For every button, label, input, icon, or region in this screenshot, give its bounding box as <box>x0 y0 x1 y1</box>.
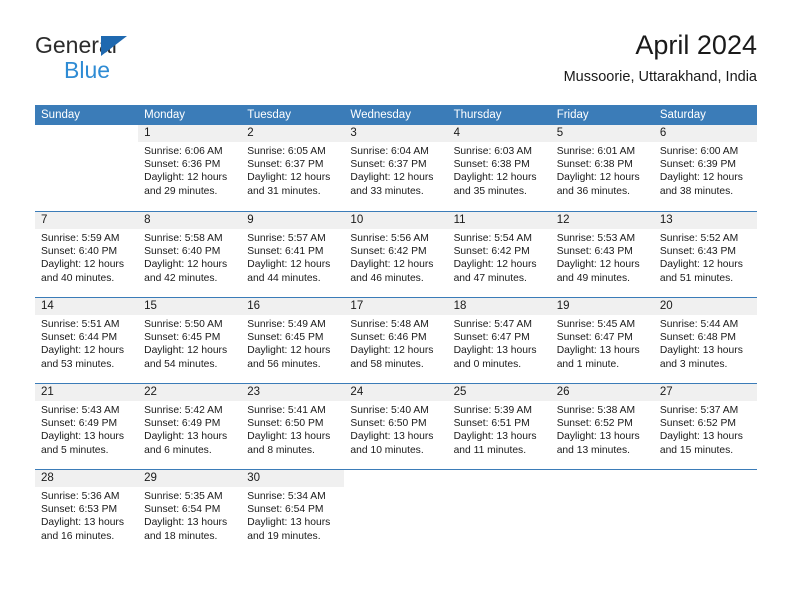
day-cell-empty <box>344 470 447 555</box>
day-cell[interactable]: 7Sunrise: 5:59 AMSunset: 6:40 PMDaylight… <box>35 212 138 297</box>
sunrise-text: Sunrise: 5:44 AM <box>660 318 751 331</box>
day-sun-info: Sunrise: 5:52 AMSunset: 6:43 PMDaylight:… <box>654 229 757 285</box>
daylight-text-line1: Daylight: 13 hours <box>557 430 648 443</box>
sunset-text: Sunset: 6:37 PM <box>247 158 338 171</box>
day-number <box>654 470 757 487</box>
day-number: 12 <box>551 212 654 229</box>
daylight-text-line1: Daylight: 13 hours <box>350 430 441 443</box>
sunset-text: Sunset: 6:51 PM <box>454 417 545 430</box>
calendar-grid: Sunday Monday Tuesday Wednesday Thursday… <box>35 105 757 555</box>
week-row: 1Sunrise: 6:06 AMSunset: 6:36 PMDaylight… <box>35 125 757 211</box>
day-number: 23 <box>241 384 344 401</box>
day-number: 29 <box>138 470 241 487</box>
sunrise-text: Sunrise: 6:01 AM <box>557 145 648 158</box>
sunset-text: Sunset: 6:49 PM <box>41 417 132 430</box>
day-sun-info: Sunrise: 5:59 AMSunset: 6:40 PMDaylight:… <box>35 229 138 285</box>
calendar-weeks: 1Sunrise: 6:06 AMSunset: 6:36 PMDaylight… <box>35 125 757 555</box>
daylight-text-line2: and 6 minutes. <box>144 444 235 457</box>
day-cell[interactable]: 15Sunrise: 5:50 AMSunset: 6:45 PMDayligh… <box>138 298 241 383</box>
day-number: 26 <box>551 384 654 401</box>
daylight-text-line1: Daylight: 12 hours <box>660 171 751 184</box>
day-cell[interactable]: 6Sunrise: 6:00 AMSunset: 6:39 PMDaylight… <box>654 125 757 211</box>
day-cell[interactable]: 29Sunrise: 5:35 AMSunset: 6:54 PMDayligh… <box>138 470 241 555</box>
day-number: 22 <box>138 384 241 401</box>
sunrise-text: Sunrise: 5:42 AM <box>144 404 235 417</box>
daylight-text-line2: and 51 minutes. <box>660 272 751 285</box>
day-sun-info: Sunrise: 6:05 AMSunset: 6:37 PMDaylight:… <box>241 142 344 198</box>
daylight-text-line2: and 3 minutes. <box>660 358 751 371</box>
week-row: 14Sunrise: 5:51 AMSunset: 6:44 PMDayligh… <box>35 297 757 383</box>
daylight-text-line2: and 13 minutes. <box>557 444 648 457</box>
sunrise-text: Sunrise: 5:53 AM <box>557 232 648 245</box>
day-of-week-header-row: Sunday Monday Tuesday Wednesday Thursday… <box>35 105 757 125</box>
day-cell[interactable]: 5Sunrise: 6:01 AMSunset: 6:38 PMDaylight… <box>551 125 654 211</box>
daylight-text-line1: Daylight: 12 hours <box>247 171 338 184</box>
daylight-text-line1: Daylight: 13 hours <box>660 430 751 443</box>
daylight-text-line1: Daylight: 12 hours <box>350 171 441 184</box>
day-number: 18 <box>448 298 551 315</box>
daylight-text-line1: Daylight: 12 hours <box>247 258 338 271</box>
day-number: 1 <box>138 125 241 142</box>
daylight-text-line1: Daylight: 13 hours <box>41 430 132 443</box>
sunrise-text: Sunrise: 5:58 AM <box>144 232 235 245</box>
day-number: 21 <box>35 384 138 401</box>
daylight-text-line1: Daylight: 13 hours <box>144 430 235 443</box>
day-cell[interactable]: 4Sunrise: 6:03 AMSunset: 6:38 PMDaylight… <box>448 125 551 211</box>
day-number: 3 <box>344 125 447 142</box>
daylight-text-line2: and 35 minutes. <box>454 185 545 198</box>
day-header-saturday: Saturday <box>654 105 757 125</box>
calendar-page: General Blue April 2024 Mussoorie, Uttar… <box>0 0 792 612</box>
day-sun-info: Sunrise: 5:58 AMSunset: 6:40 PMDaylight:… <box>138 229 241 285</box>
daylight-text-line1: Daylight: 13 hours <box>454 344 545 357</box>
day-cell[interactable]: 30Sunrise: 5:34 AMSunset: 6:54 PMDayligh… <box>241 470 344 555</box>
page-title: April 2024 <box>564 28 757 62</box>
day-cell-empty <box>35 125 138 211</box>
day-number: 4 <box>448 125 551 142</box>
day-cell[interactable]: 13Sunrise: 5:52 AMSunset: 6:43 PMDayligh… <box>654 212 757 297</box>
sunset-text: Sunset: 6:50 PM <box>350 417 441 430</box>
sunrise-text: Sunrise: 5:59 AM <box>41 232 132 245</box>
day-cell[interactable]: 14Sunrise: 5:51 AMSunset: 6:44 PMDayligh… <box>35 298 138 383</box>
sunset-text: Sunset: 6:36 PM <box>144 158 235 171</box>
day-number: 16 <box>241 298 344 315</box>
sunset-text: Sunset: 6:43 PM <box>660 245 751 258</box>
day-number: 2 <box>241 125 344 142</box>
day-cell[interactable]: 10Sunrise: 5:56 AMSunset: 6:42 PMDayligh… <box>344 212 447 297</box>
day-number: 25 <box>448 384 551 401</box>
daylight-text-line1: Daylight: 13 hours <box>557 344 648 357</box>
daylight-text-line2: and 16 minutes. <box>41 530 132 543</box>
general-blue-logo[interactable]: General Blue <box>35 32 165 88</box>
sunset-text: Sunset: 6:43 PM <box>557 245 648 258</box>
daylight-text-line1: Daylight: 12 hours <box>247 344 338 357</box>
sunrise-text: Sunrise: 5:50 AM <box>144 318 235 331</box>
day-number: 20 <box>654 298 757 315</box>
day-sun-info: Sunrise: 6:00 AMSunset: 6:39 PMDaylight:… <box>654 142 757 198</box>
daylight-text-line1: Daylight: 12 hours <box>454 258 545 271</box>
daylight-text-line2: and 44 minutes. <box>247 272 338 285</box>
sunset-text: Sunset: 6:39 PM <box>660 158 751 171</box>
daylight-text-line1: Daylight: 12 hours <box>454 171 545 184</box>
day-cell[interactable]: 20Sunrise: 5:44 AMSunset: 6:48 PMDayligh… <box>654 298 757 383</box>
daylight-text-line2: and 31 minutes. <box>247 185 338 198</box>
sunset-text: Sunset: 6:38 PM <box>557 158 648 171</box>
day-cell[interactable]: 19Sunrise: 5:45 AMSunset: 6:47 PMDayligh… <box>551 298 654 383</box>
day-number: 30 <box>241 470 344 487</box>
daylight-text-line2: and 19 minutes. <box>247 530 338 543</box>
day-sun-info: Sunrise: 5:45 AMSunset: 6:47 PMDaylight:… <box>551 315 654 371</box>
daylight-text-line2: and 38 minutes. <box>660 185 751 198</box>
day-cell[interactable]: 26Sunrise: 5:38 AMSunset: 6:52 PMDayligh… <box>551 384 654 469</box>
daylight-text-line2: and 54 minutes. <box>144 358 235 371</box>
daylight-text-line1: Daylight: 13 hours <box>247 430 338 443</box>
daylight-text-line2: and 8 minutes. <box>247 444 338 457</box>
day-sun-info: Sunrise: 5:57 AMSunset: 6:41 PMDaylight:… <box>241 229 344 285</box>
sunset-text: Sunset: 6:46 PM <box>350 331 441 344</box>
day-sun-info: Sunrise: 5:40 AMSunset: 6:50 PMDaylight:… <box>344 401 447 457</box>
sunrise-text: Sunrise: 5:34 AM <box>247 490 338 503</box>
sunrise-text: Sunrise: 5:49 AM <box>247 318 338 331</box>
day-sun-info: Sunrise: 5:34 AMSunset: 6:54 PMDaylight:… <box>241 487 344 543</box>
day-number: 9 <box>241 212 344 229</box>
daylight-text-line2: and 42 minutes. <box>144 272 235 285</box>
day-cell[interactable]: 9Sunrise: 5:57 AMSunset: 6:41 PMDaylight… <box>241 212 344 297</box>
day-sun-info: Sunrise: 5:44 AMSunset: 6:48 PMDaylight:… <box>654 315 757 371</box>
day-header-thursday: Thursday <box>448 105 551 125</box>
day-cell[interactable]: 28Sunrise: 5:36 AMSunset: 6:53 PMDayligh… <box>35 470 138 555</box>
day-number: 27 <box>654 384 757 401</box>
sunset-text: Sunset: 6:44 PM <box>41 331 132 344</box>
day-sun-info: Sunrise: 5:48 AMSunset: 6:46 PMDaylight:… <box>344 315 447 371</box>
day-cell[interactable]: 1Sunrise: 6:06 AMSunset: 6:36 PMDaylight… <box>138 125 241 211</box>
day-sun-info: Sunrise: 5:35 AMSunset: 6:54 PMDaylight:… <box>138 487 241 543</box>
day-header-wednesday: Wednesday <box>344 105 447 125</box>
day-sun-info: Sunrise: 5:42 AMSunset: 6:49 PMDaylight:… <box>138 401 241 457</box>
sunset-text: Sunset: 6:47 PM <box>454 331 545 344</box>
daylight-text-line1: Daylight: 12 hours <box>144 258 235 271</box>
day-sun-info: Sunrise: 5:38 AMSunset: 6:52 PMDaylight:… <box>551 401 654 457</box>
daylight-text-line2: and 10 minutes. <box>350 444 441 457</box>
day-cell[interactable]: 24Sunrise: 5:40 AMSunset: 6:50 PMDayligh… <box>344 384 447 469</box>
sunrise-text: Sunrise: 6:06 AM <box>144 145 235 158</box>
sunset-text: Sunset: 6:49 PM <box>144 417 235 430</box>
daylight-text-line1: Daylight: 12 hours <box>41 258 132 271</box>
day-number: 24 <box>344 384 447 401</box>
sunrise-text: Sunrise: 5:45 AM <box>557 318 648 331</box>
day-sun-info: Sunrise: 5:39 AMSunset: 6:51 PMDaylight:… <box>448 401 551 457</box>
day-number: 7 <box>35 212 138 229</box>
page-subtitle: Mussoorie, Uttarakhand, India <box>564 68 757 86</box>
sunrise-text: Sunrise: 5:36 AM <box>41 490 132 503</box>
sunset-text: Sunset: 6:45 PM <box>247 331 338 344</box>
sunrise-text: Sunrise: 5:52 AM <box>660 232 751 245</box>
sunset-text: Sunset: 6:54 PM <box>144 503 235 516</box>
day-cell[interactable]: 8Sunrise: 5:58 AMSunset: 6:40 PMDaylight… <box>138 212 241 297</box>
day-cell[interactable]: 25Sunrise: 5:39 AMSunset: 6:51 PMDayligh… <box>448 384 551 469</box>
day-cell[interactable]: 27Sunrise: 5:37 AMSunset: 6:52 PMDayligh… <box>654 384 757 469</box>
day-number <box>551 470 654 487</box>
sunrise-text: Sunrise: 5:41 AM <box>247 404 338 417</box>
day-cell-empty <box>448 470 551 555</box>
daylight-text-line1: Daylight: 13 hours <box>454 430 545 443</box>
sunset-text: Sunset: 6:52 PM <box>557 417 648 430</box>
page-header: General Blue April 2024 Mussoorie, Uttar… <box>35 28 757 98</box>
day-number <box>35 125 138 142</box>
sunrise-text: Sunrise: 6:04 AM <box>350 145 441 158</box>
daylight-text-line1: Daylight: 12 hours <box>557 171 648 184</box>
sunrise-text: Sunrise: 5:38 AM <box>557 404 648 417</box>
sunset-text: Sunset: 6:54 PM <box>247 503 338 516</box>
sunrise-text: Sunrise: 5:39 AM <box>454 404 545 417</box>
day-sun-info: Sunrise: 6:03 AMSunset: 6:38 PMDaylight:… <box>448 142 551 198</box>
sunrise-text: Sunrise: 5:51 AM <box>41 318 132 331</box>
day-number: 13 <box>654 212 757 229</box>
day-sun-info: Sunrise: 5:54 AMSunset: 6:42 PMDaylight:… <box>448 229 551 285</box>
daylight-text-line1: Daylight: 13 hours <box>41 516 132 529</box>
daylight-text-line1: Daylight: 12 hours <box>144 344 235 357</box>
sunrise-text: Sunrise: 6:05 AM <box>247 145 338 158</box>
daylight-text-line1: Daylight: 12 hours <box>144 171 235 184</box>
day-cell[interactable]: 23Sunrise: 5:41 AMSunset: 6:50 PMDayligh… <box>241 384 344 469</box>
daylight-text-line2: and 56 minutes. <box>247 358 338 371</box>
week-row: 28Sunrise: 5:36 AMSunset: 6:53 PMDayligh… <box>35 469 757 555</box>
sunrise-text: Sunrise: 5:57 AM <box>247 232 338 245</box>
daylight-text-line2: and 5 minutes. <box>41 444 132 457</box>
day-header-tuesday: Tuesday <box>241 105 344 125</box>
logo-text-blue: Blue <box>64 57 110 83</box>
sunset-text: Sunset: 6:45 PM <box>144 331 235 344</box>
sunset-text: Sunset: 6:42 PM <box>454 245 545 258</box>
day-number: 10 <box>344 212 447 229</box>
logo-triangle-icon <box>101 36 127 56</box>
week-row: 7Sunrise: 5:59 AMSunset: 6:40 PMDaylight… <box>35 211 757 297</box>
day-sun-info: Sunrise: 5:41 AMSunset: 6:50 PMDaylight:… <box>241 401 344 457</box>
day-cell-empty <box>551 470 654 555</box>
daylight-text-line2: and 15 minutes. <box>660 444 751 457</box>
daylight-text-line2: and 36 minutes. <box>557 185 648 198</box>
daylight-text-line2: and 49 minutes. <box>557 272 648 285</box>
sunrise-text: Sunrise: 5:43 AM <box>41 404 132 417</box>
day-sun-info: Sunrise: 6:06 AMSunset: 6:36 PMDaylight:… <box>138 142 241 198</box>
day-sun-info: Sunrise: 5:49 AMSunset: 6:45 PMDaylight:… <box>241 315 344 371</box>
daylight-text-line1: Daylight: 12 hours <box>660 258 751 271</box>
week-row: 21Sunrise: 5:43 AMSunset: 6:49 PMDayligh… <box>35 383 757 469</box>
day-number <box>344 470 447 487</box>
daylight-text-line1: Daylight: 13 hours <box>247 516 338 529</box>
day-number: 14 <box>35 298 138 315</box>
daylight-text-line2: and 29 minutes. <box>144 185 235 198</box>
daylight-text-line2: and 0 minutes. <box>454 358 545 371</box>
day-sun-info: Sunrise: 6:01 AMSunset: 6:38 PMDaylight:… <box>551 142 654 198</box>
sunrise-text: Sunrise: 5:54 AM <box>454 232 545 245</box>
sunrise-text: Sunrise: 6:03 AM <box>454 145 545 158</box>
daylight-text-line1: Daylight: 13 hours <box>660 344 751 357</box>
day-cell[interactable]: 11Sunrise: 5:54 AMSunset: 6:42 PMDayligh… <box>448 212 551 297</box>
day-cell[interactable]: 22Sunrise: 5:42 AMSunset: 6:49 PMDayligh… <box>138 384 241 469</box>
day-header-monday: Monday <box>138 105 241 125</box>
sunset-text: Sunset: 6:52 PM <box>660 417 751 430</box>
day-number <box>448 470 551 487</box>
daylight-text-line1: Daylight: 12 hours <box>350 344 441 357</box>
daylight-text-line2: and 18 minutes. <box>144 530 235 543</box>
sunset-text: Sunset: 6:48 PM <box>660 331 751 344</box>
sunset-text: Sunset: 6:47 PM <box>557 331 648 344</box>
day-cell[interactable]: 17Sunrise: 5:48 AMSunset: 6:46 PMDayligh… <box>344 298 447 383</box>
title-block: April 2024 Mussoorie, Uttarakhand, India <box>564 28 757 86</box>
day-number: 5 <box>551 125 654 142</box>
day-number: 11 <box>448 212 551 229</box>
day-cell-empty <box>654 470 757 555</box>
daylight-text-line2: and 33 minutes. <box>350 185 441 198</box>
day-number: 19 <box>551 298 654 315</box>
sunset-text: Sunset: 6:40 PM <box>41 245 132 258</box>
sunset-text: Sunset: 6:53 PM <box>41 503 132 516</box>
daylight-text-line2: and 1 minute. <box>557 358 648 371</box>
sunrise-text: Sunrise: 6:00 AM <box>660 145 751 158</box>
daylight-text-line1: Daylight: 12 hours <box>350 258 441 271</box>
sunset-text: Sunset: 6:40 PM <box>144 245 235 258</box>
sunset-text: Sunset: 6:42 PM <box>350 245 441 258</box>
sunrise-text: Sunrise: 5:37 AM <box>660 404 751 417</box>
daylight-text-line1: Daylight: 13 hours <box>144 516 235 529</box>
day-number: 6 <box>654 125 757 142</box>
sunset-text: Sunset: 6:37 PM <box>350 158 441 171</box>
daylight-text-line2: and 47 minutes. <box>454 272 545 285</box>
daylight-text-line2: and 46 minutes. <box>350 272 441 285</box>
daylight-text-line1: Daylight: 12 hours <box>557 258 648 271</box>
sunrise-text: Sunrise: 5:47 AM <box>454 318 545 331</box>
day-cell[interactable]: 21Sunrise: 5:43 AMSunset: 6:49 PMDayligh… <box>35 384 138 469</box>
daylight-text-line2: and 58 minutes. <box>350 358 441 371</box>
day-sun-info: Sunrise: 5:37 AMSunset: 6:52 PMDaylight:… <box>654 401 757 457</box>
day-sun-info: Sunrise: 6:04 AMSunset: 6:37 PMDaylight:… <box>344 142 447 198</box>
day-sun-info: Sunrise: 5:50 AMSunset: 6:45 PMDaylight:… <box>138 315 241 371</box>
daylight-text-line1: Daylight: 12 hours <box>41 344 132 357</box>
sunrise-text: Sunrise: 5:40 AM <box>350 404 441 417</box>
day-sun-info: Sunrise: 5:47 AMSunset: 6:47 PMDaylight:… <box>448 315 551 371</box>
day-number: 15 <box>138 298 241 315</box>
day-cell[interactable]: 3Sunrise: 6:04 AMSunset: 6:37 PMDaylight… <box>344 125 447 211</box>
day-cell[interactable]: 12Sunrise: 5:53 AMSunset: 6:43 PMDayligh… <box>551 212 654 297</box>
day-number: 28 <box>35 470 138 487</box>
day-header-friday: Friday <box>551 105 654 125</box>
daylight-text-line2: and 40 minutes. <box>41 272 132 285</box>
day-sun-info: Sunrise: 5:36 AMSunset: 6:53 PMDaylight:… <box>35 487 138 543</box>
day-header-sunday: Sunday <box>35 105 138 125</box>
day-cell[interactable]: 2Sunrise: 6:05 AMSunset: 6:37 PMDaylight… <box>241 125 344 211</box>
sunset-text: Sunset: 6:50 PM <box>247 417 338 430</box>
day-cell[interactable]: 16Sunrise: 5:49 AMSunset: 6:45 PMDayligh… <box>241 298 344 383</box>
day-sun-info: Sunrise: 5:53 AMSunset: 6:43 PMDaylight:… <box>551 229 654 285</box>
day-sun-info: Sunrise: 5:56 AMSunset: 6:42 PMDaylight:… <box>344 229 447 285</box>
daylight-text-line2: and 53 minutes. <box>41 358 132 371</box>
day-cell[interactable]: 18Sunrise: 5:47 AMSunset: 6:47 PMDayligh… <box>448 298 551 383</box>
day-number: 8 <box>138 212 241 229</box>
day-number: 17 <box>344 298 447 315</box>
sunrise-text: Sunrise: 5:48 AM <box>350 318 441 331</box>
sunset-text: Sunset: 6:38 PM <box>454 158 545 171</box>
sunrise-text: Sunrise: 5:35 AM <box>144 490 235 503</box>
day-sun-info: Sunrise: 5:43 AMSunset: 6:49 PMDaylight:… <box>35 401 138 457</box>
sunset-text: Sunset: 6:41 PM <box>247 245 338 258</box>
sunrise-text: Sunrise: 5:56 AM <box>350 232 441 245</box>
daylight-text-line2: and 11 minutes. <box>454 444 545 457</box>
day-sun-info: Sunrise: 5:51 AMSunset: 6:44 PMDaylight:… <box>35 315 138 371</box>
